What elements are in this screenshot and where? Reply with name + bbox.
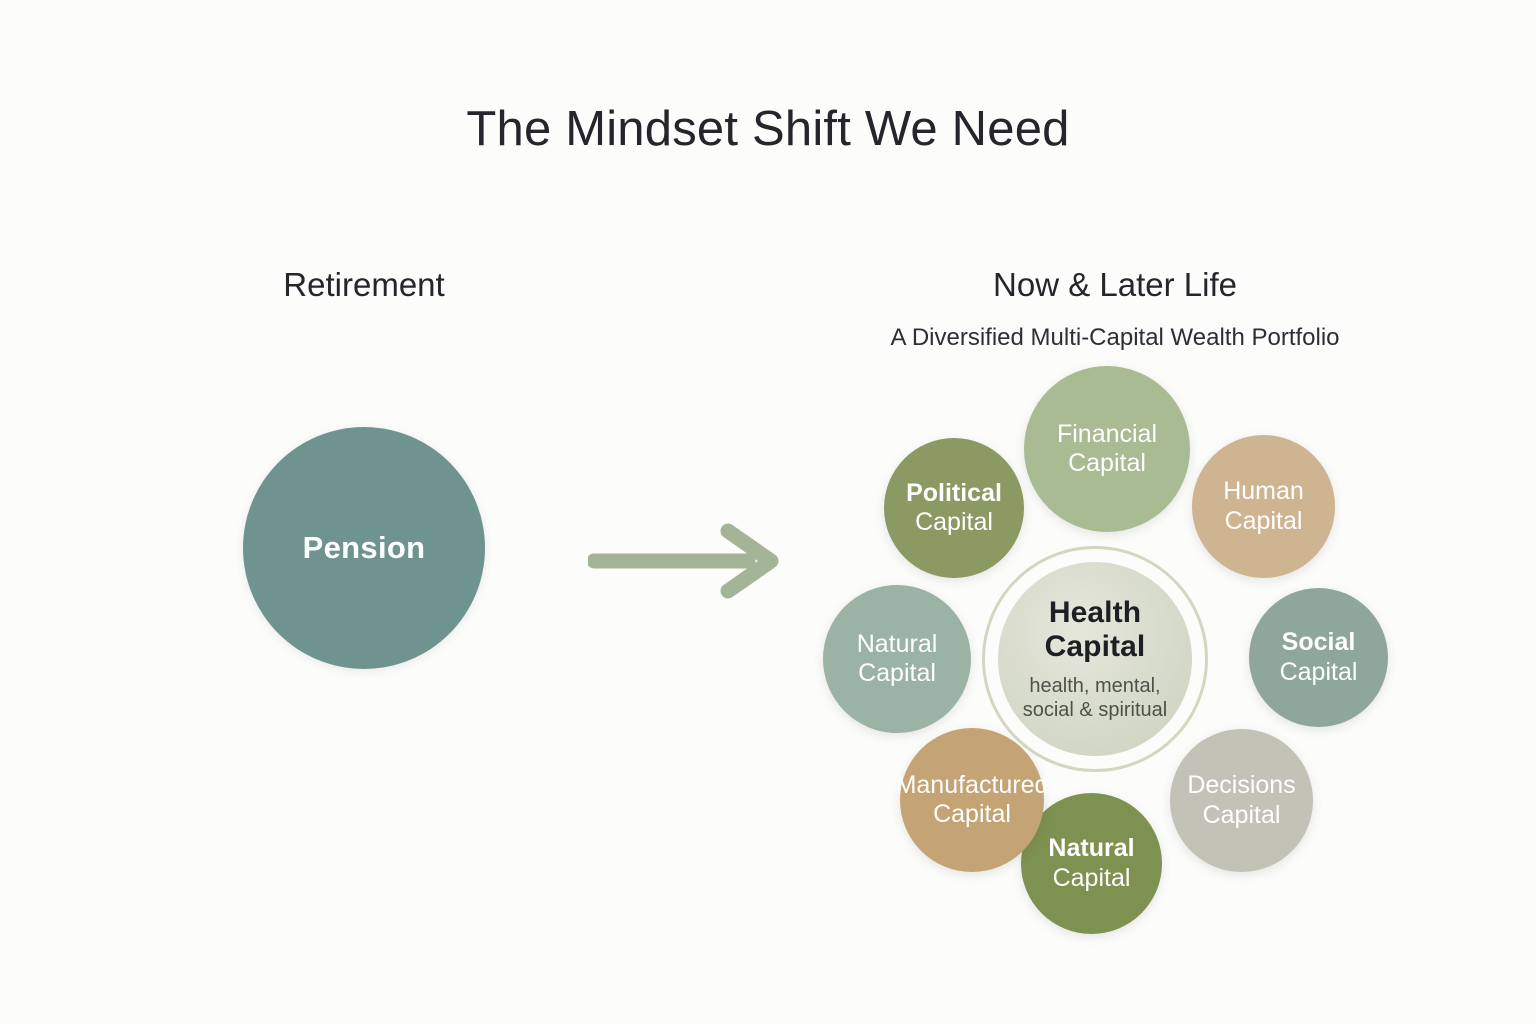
bubble-label-primary: Human xyxy=(1223,477,1304,507)
right-column-subheading: A Diversified Multi-Capital Wealth Portf… xyxy=(815,324,1415,352)
bubble-label-primary: Social xyxy=(1282,628,1356,658)
health-capital-title-line2: Capital xyxy=(1045,630,1146,663)
health-capital-subtitle-line1: health, mental, xyxy=(1029,675,1160,697)
health-capital-hub: Health Capital health, mental, social & … xyxy=(982,546,1208,772)
bubble-label-primary: Natural xyxy=(857,630,938,660)
page-title: The Mindset Shift We Need xyxy=(0,101,1536,157)
health-capital-title-line1: Health xyxy=(1049,596,1141,629)
bubble-label-primary: Financial xyxy=(1057,420,1157,450)
bubble-label-secondary: Capital xyxy=(1225,507,1303,537)
bubble-top-left[interactable]: PoliticalCapital xyxy=(884,438,1024,578)
bubble-label-secondary: Capital xyxy=(858,659,936,689)
bubble-label-secondary: Capital xyxy=(1053,864,1131,894)
bubble-bottom-right[interactable]: DecisionsCapital xyxy=(1170,729,1313,872)
health-capital-title: Health Capital xyxy=(1045,596,1146,663)
health-capital-subtitle-line2: social & spiritual xyxy=(1023,699,1168,721)
bubble-label-secondary: Capital xyxy=(1068,449,1146,479)
arrow-right-icon xyxy=(588,523,788,599)
pension-label: Pension xyxy=(303,530,426,566)
bubble-label-primary: Manufactured xyxy=(896,771,1049,801)
bubble-label-secondary: Capital xyxy=(1280,658,1358,688)
bubble-label-secondary: Capital xyxy=(1203,801,1281,831)
bubble-label-secondary: Capital xyxy=(933,800,1011,830)
capital-bubble-cluster: FinancialCapitalHumanCapitalSocialCapita… xyxy=(806,366,1416,936)
bubble-label-primary: Natural xyxy=(1048,834,1134,864)
health-capital-subtitle: health, mental, social & spiritual xyxy=(1023,674,1168,722)
bubble-label-primary: Decisions xyxy=(1187,771,1295,801)
bubble-top-right[interactable]: HumanCapital xyxy=(1192,435,1335,578)
health-capital-inner: Health Capital health, mental, social & … xyxy=(998,562,1192,756)
bubble-bottom-left[interactable]: ManufacturedCapital xyxy=(900,728,1044,872)
diagram-canvas: The Mindset Shift We Need Retirement Pen… xyxy=(0,0,1536,1024)
bubble-top[interactable]: FinancialCapital xyxy=(1024,366,1190,532)
bubble-right[interactable]: SocialCapital xyxy=(1249,588,1388,727)
bubble-label-primary: Political xyxy=(906,479,1002,509)
right-column-heading: Now & Later Life xyxy=(915,266,1315,304)
bubble-label-secondary: Capital xyxy=(915,508,993,538)
bubble-left[interactable]: NaturalCapital xyxy=(823,585,971,733)
left-column-heading: Retirement xyxy=(164,266,564,304)
pension-circle: Pension xyxy=(243,427,485,669)
